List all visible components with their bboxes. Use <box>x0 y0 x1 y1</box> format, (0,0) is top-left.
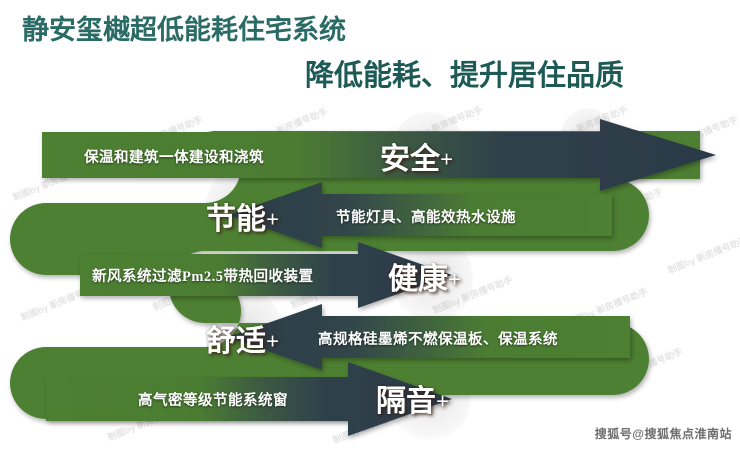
slide-canvas: 制图by 新房播号助手 制图by 新房播号助手 制图by 新房播号助手 制图by… <box>0 0 740 450</box>
row-keyword-text-3: 健康 <box>388 263 448 296</box>
row-keyword-plus-4: + <box>266 329 279 354</box>
row-description-2: 节能灯具、高能效热水设施 <box>336 206 516 227</box>
row-keyword-text-4: 舒适 <box>206 325 266 358</box>
row-description-4: 高规格硅墨烯不燃保温板、保温系统 <box>318 328 558 349</box>
row-keyword-3: 健康+ <box>388 254 461 298</box>
row-keyword-4: 舒适+ <box>206 316 279 360</box>
row-keyword-2: 节能+ <box>206 194 279 238</box>
row-keyword-text-5: 隔音 <box>376 385 436 418</box>
row-keyword-text-1: 安全 <box>380 143 440 176</box>
source-credit: 搜狐号@搜狐焦点淮南站 <box>595 425 732 442</box>
row-keyword-plus-1: + <box>440 147 453 172</box>
row-keyword-plus-3: + <box>448 267 461 292</box>
row-keyword-plus-2: + <box>266 207 279 232</box>
row-keyword-5: 隔音+ <box>376 376 449 420</box>
row-keyword-1: 安全+ <box>380 134 453 178</box>
row-description-3: 新风系统过滤Pm2.5带热回收装置 <box>92 265 314 286</box>
row-description-1: 保温和建筑一体建设和浇筑 <box>84 146 264 167</box>
row-keyword-text-2: 节能 <box>206 203 266 236</box>
row-keyword-plus-5: + <box>436 389 449 414</box>
row-description-5: 高气密等级节能系统窗 <box>138 389 288 410</box>
